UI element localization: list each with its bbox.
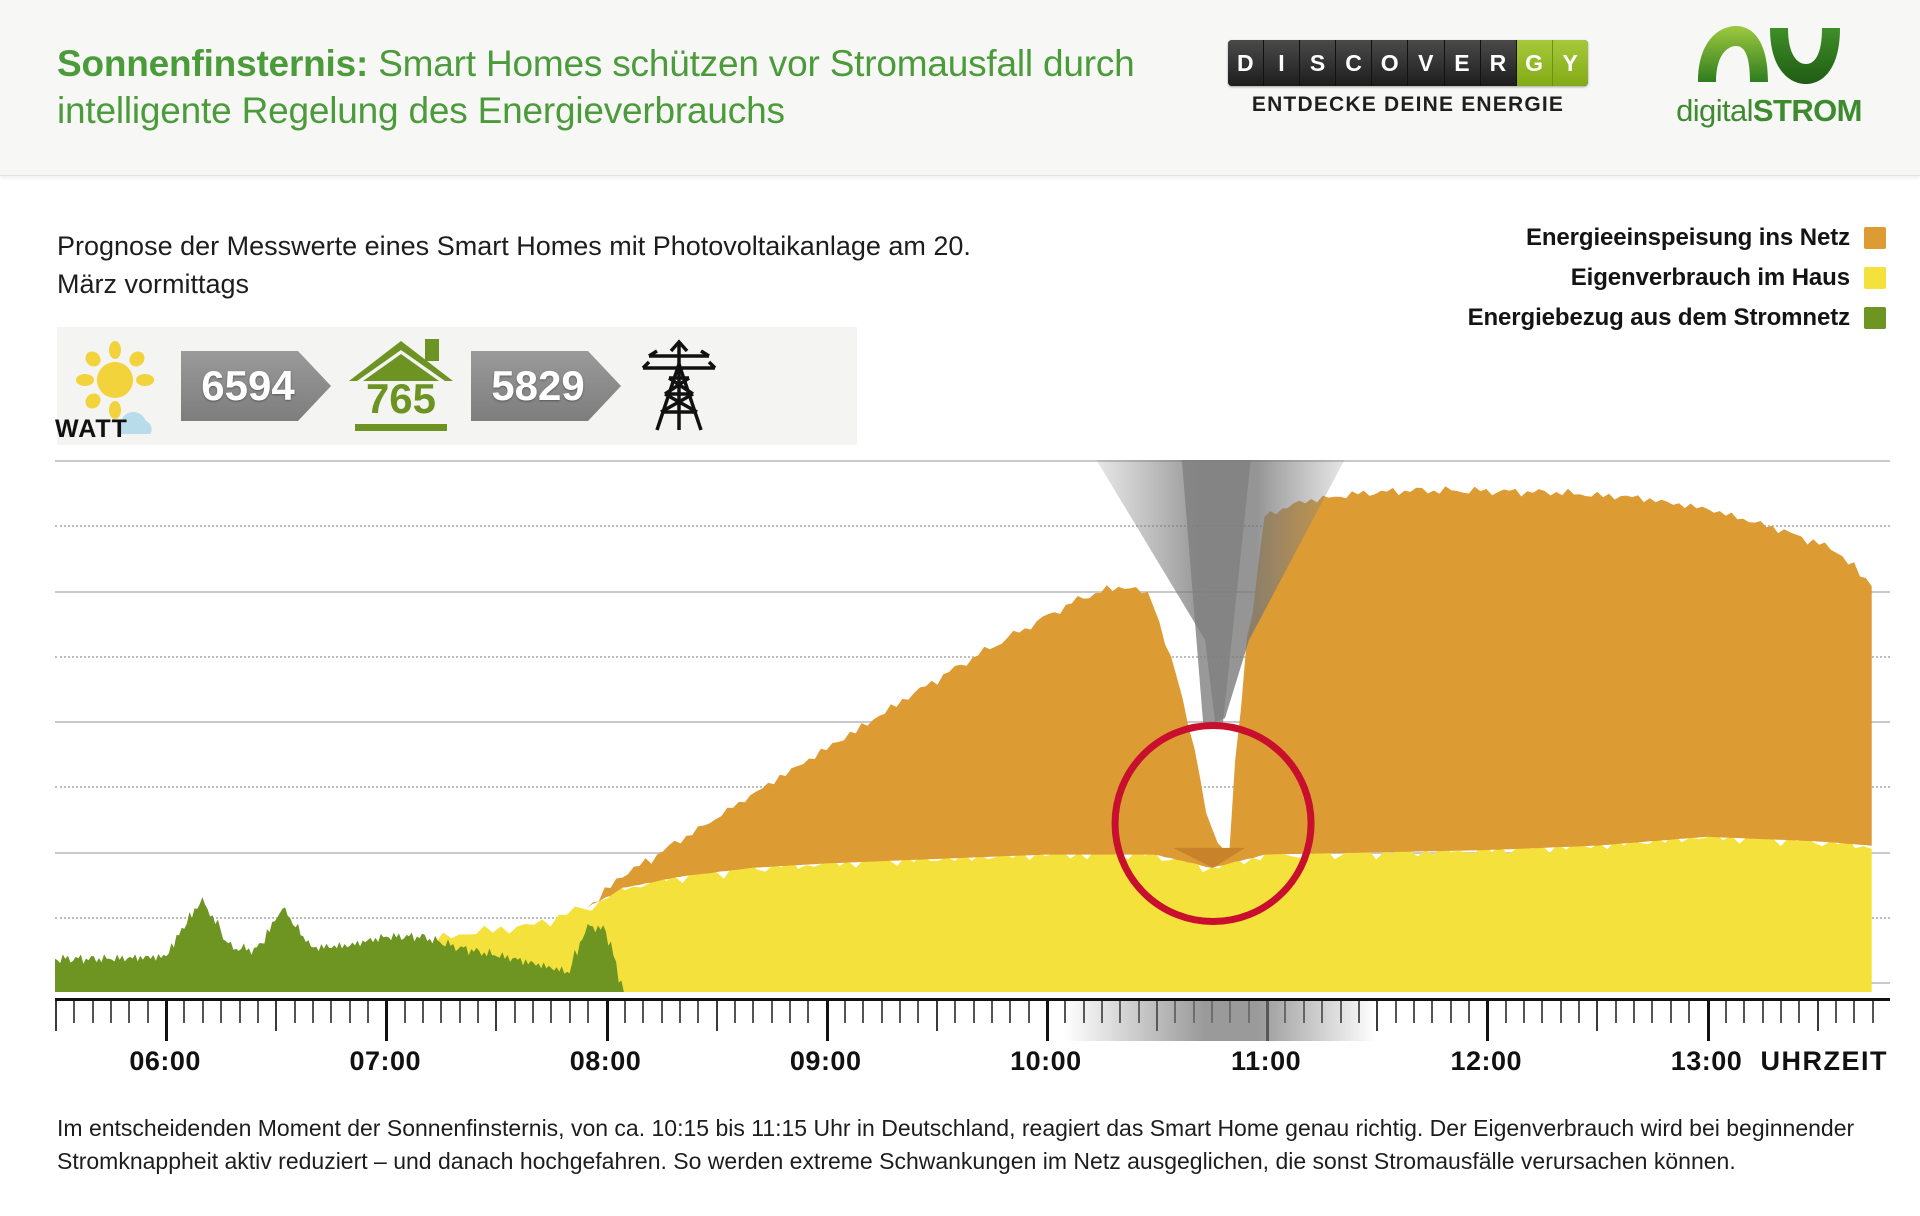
axis-tick: [807, 1001, 809, 1023]
axis-tick: [312, 1001, 314, 1023]
axis-tick: [495, 1001, 497, 1031]
discovergy-logo: DISCOVERGY ENTDECKE DEINE ENERGIE: [1228, 40, 1588, 117]
house-icon: 765: [341, 331, 461, 441]
discovergy-letter: V: [1408, 40, 1444, 86]
axis-tick: [1835, 1001, 1837, 1023]
axis-tick: [844, 1001, 846, 1023]
axis-tick: [1486, 1001, 1489, 1041]
axis-tick: [1450, 1001, 1452, 1023]
discovergy-letter: S: [1300, 40, 1336, 86]
axis-tick: [1780, 1001, 1782, 1023]
axis-tick: [734, 1001, 736, 1023]
digitalstrom-word-light: digital: [1676, 93, 1753, 128]
discovergy-letter: Y: [1553, 40, 1588, 86]
axis-tick-label: 12:00: [1451, 1046, 1523, 1077]
axis-tick: [1395, 1001, 1397, 1023]
chart-plot: [55, 460, 1890, 992]
axis-tick: [936, 1001, 938, 1031]
discovergy-tagline: ENTDECKE DEINE ENERGIE: [1228, 93, 1588, 117]
axis-tick: [73, 1001, 75, 1023]
eclipse-axis-shading: [1064, 1001, 1376, 1041]
axis-tick: [147, 1001, 149, 1023]
x-axis-ticks: [55, 1001, 1890, 1043]
discovergy-letter: R: [1481, 40, 1517, 86]
axis-tick: [165, 1001, 168, 1041]
axis-tick: [550, 1001, 552, 1023]
axis-tick: [440, 1001, 442, 1023]
axis-tick-label: 07:00: [350, 1046, 422, 1077]
axis-tick-label: 09:00: [790, 1046, 862, 1077]
legend-swatch: [1864, 307, 1886, 329]
axis-tick-label: 06:00: [129, 1046, 201, 1077]
axis-tick: [1009, 1001, 1011, 1023]
axis-tick-label: 13:00: [1671, 1046, 1743, 1077]
digitalstrom-logo: digitalSTROM: [1664, 24, 1874, 129]
axis-tick: [220, 1001, 222, 1023]
axis-tick: [1707, 1001, 1710, 1041]
axis-tick: [330, 1001, 332, 1023]
axis-tick: [1872, 1001, 1874, 1023]
axis-tick: [1762, 1001, 1764, 1023]
axis-tick: [1468, 1001, 1470, 1023]
axis-tick: [1596, 1001, 1598, 1031]
arrow-feedin: 5829: [471, 351, 621, 421]
axis-tick: [110, 1001, 112, 1023]
axis-tick: [349, 1001, 351, 1023]
axis-tick: [459, 1001, 461, 1023]
page-title-highlight: Sonnenfinsternis:: [57, 43, 368, 84]
y-axis-label: WATT: [55, 415, 128, 444]
axis-tick: [642, 1001, 644, 1023]
legend-item-grid-draw: Energiebezug aus dem Stromnetz: [1468, 304, 1886, 332]
axis-tick: [1670, 1001, 1672, 1023]
axis-tick: [1560, 1001, 1562, 1023]
header-bar: Sonnenfinsternis: Smart Homes schützen v…: [0, 0, 1920, 176]
page-title: Sonnenfinsternis: Smart Homes schützen v…: [57, 40, 1207, 134]
digitalstrom-wave-icon: [1694, 24, 1844, 86]
axis-tick: [367, 1001, 369, 1023]
axis-tick: [532, 1001, 534, 1023]
production-value: 6594: [201, 362, 310, 410]
x-axis-tick-labels: 06:0007:0008:0009:0010:0011:0012:0013:00: [0, 1046, 1920, 1082]
axis-tick: [422, 1001, 424, 1023]
axis-tick: [661, 1001, 663, 1023]
axis-tick: [716, 1001, 718, 1031]
house-base: [355, 424, 447, 431]
axis-tick: [881, 1001, 883, 1023]
axis-tick: [1853, 1001, 1855, 1023]
axis-tick: [697, 1001, 699, 1023]
axis-tick: [257, 1001, 259, 1023]
axis-tick: [991, 1001, 993, 1023]
discovergy-letter: D: [1228, 40, 1264, 86]
axis-tick: [1505, 1001, 1507, 1023]
legend-swatch: [1864, 227, 1886, 249]
x-axis-label: UHRZEIT: [1761, 1046, 1889, 1077]
digitalstrom-wordmark: digitalSTROM: [1664, 93, 1874, 129]
discovergy-letter: I: [1264, 40, 1300, 86]
axis-tick: [1413, 1001, 1415, 1023]
axis-tick: [771, 1001, 773, 1023]
axis-tick: [239, 1001, 241, 1023]
axis-tick: [1615, 1001, 1617, 1023]
axis-tick: [917, 1001, 919, 1023]
axis-tick: [1743, 1001, 1745, 1023]
axis-tick: [1523, 1001, 1525, 1023]
legend-item-feed-in: Energieeinspeisung ins Netz: [1468, 224, 1886, 252]
axis-tick: [752, 1001, 754, 1023]
chart-area: WATT: [0, 460, 1920, 1020]
axis-tick: [514, 1001, 516, 1023]
axis-tick: [954, 1001, 956, 1023]
axis-tick: [1688, 1001, 1690, 1023]
axis-tick: [1651, 1001, 1653, 1023]
axis-tick: [826, 1001, 829, 1041]
axis-tick: [587, 1001, 589, 1023]
footer-caption: Im entscheidenden Moment der Sonnenfinst…: [57, 1112, 1857, 1178]
axis-tick: [569, 1001, 571, 1023]
axis-tick: [404, 1001, 406, 1023]
axis-tick: [55, 1001, 57, 1031]
axis-tick: [1376, 1001, 1378, 1031]
discovergy-letter: E: [1445, 40, 1481, 86]
axis-tick: [275, 1001, 277, 1031]
axis-tick: [385, 1001, 388, 1041]
legend-swatch: [1864, 267, 1886, 289]
axis-tick-label: 08:00: [570, 1046, 642, 1077]
discovergy-letter: O: [1372, 40, 1408, 86]
legend-label: Energiebezug aus dem Stromnetz: [1468, 304, 1850, 332]
axis-tick: [973, 1001, 975, 1023]
energy-flow-strip: 6594 765 5829: [57, 327, 857, 445]
axis-tick: [1541, 1001, 1543, 1023]
chart-series-svg: [55, 460, 1890, 992]
power-pylon-icon: [627, 338, 731, 434]
feedin-value: 5829: [491, 362, 600, 410]
axis-tick: [1578, 1001, 1580, 1023]
axis-tick: [789, 1001, 791, 1023]
axis-tick: [1431, 1001, 1433, 1023]
axis-tick: [1817, 1001, 1819, 1031]
axis-tick-label: 11:00: [1231, 1046, 1301, 1077]
chart-legend: Energieeinspeisung ins NetzEigenverbrauc…: [1468, 224, 1886, 344]
legend-label: Energieeinspeisung ins Netz: [1526, 224, 1850, 252]
axis-tick: [128, 1001, 130, 1023]
axis-tick: [183, 1001, 185, 1023]
house-value: 765: [341, 375, 461, 423]
axis-tick: [92, 1001, 94, 1023]
axis-tick: [624, 1001, 626, 1023]
axis-tick: [899, 1001, 901, 1023]
legend-item-self-consumption: Eigenverbrauch im Haus: [1468, 264, 1886, 292]
axis-tick: [477, 1001, 479, 1023]
arrow-production: 6594: [181, 351, 331, 421]
axis-tick: [862, 1001, 864, 1023]
discovergy-letter: C: [1336, 40, 1372, 86]
axis-tick: [679, 1001, 681, 1023]
axis-tick: [1725, 1001, 1727, 1023]
axis-tick: [1028, 1001, 1030, 1023]
axis-tick: [202, 1001, 204, 1023]
axis-tick: [1633, 1001, 1635, 1023]
infographic-page: Sonnenfinsternis: Smart Homes schützen v…: [0, 0, 1920, 1216]
legend-label: Eigenverbrauch im Haus: [1571, 264, 1850, 292]
axis-tick: [606, 1001, 609, 1041]
discovergy-wordmark: DISCOVERGY: [1228, 40, 1588, 86]
axis-tick: [1046, 1001, 1049, 1041]
axis-tick-label: 10:00: [1010, 1046, 1082, 1077]
chart-subtitle: Prognose der Messwerte eines Smart Homes…: [57, 227, 1017, 303]
digitalstrom-word-bold: STROM: [1753, 93, 1862, 128]
discovergy-letter: G: [1517, 40, 1553, 86]
axis-tick: [1798, 1001, 1800, 1023]
axis-tick: [294, 1001, 296, 1023]
